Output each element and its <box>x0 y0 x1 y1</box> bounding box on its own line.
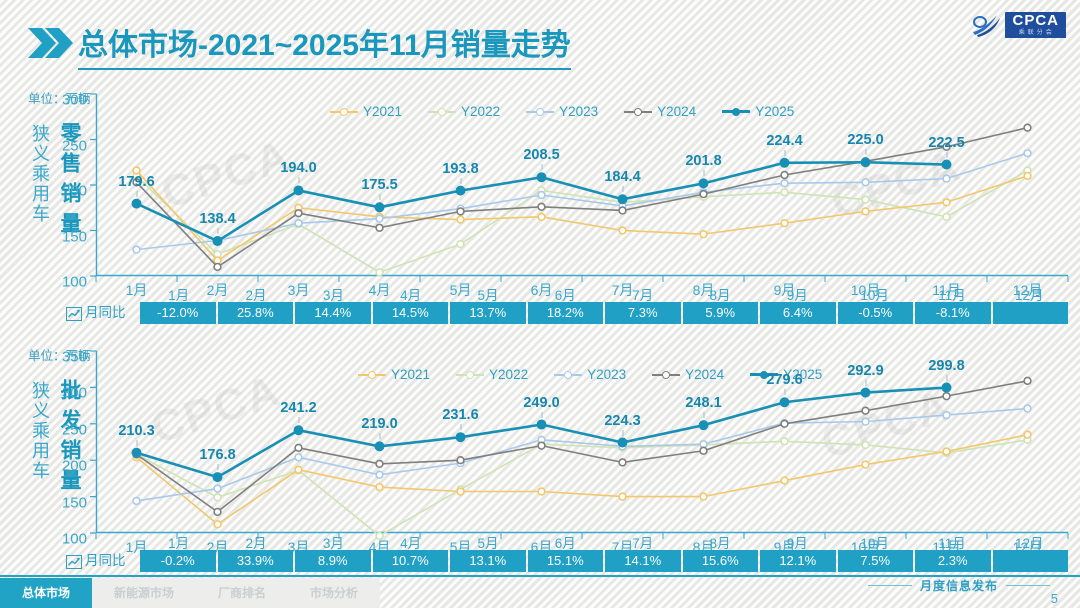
table-cell: 25.8% <box>218 302 294 324</box>
table-cell: 14.5% <box>373 302 449 324</box>
table-cell: 7.3% <box>605 302 681 324</box>
publication-label: 月度信息发布 <box>920 577 998 594</box>
table-cell: 12.1% <box>760 550 836 572</box>
publication-banner: 月度信息发布 <box>868 577 1050 594</box>
table-cell: 33.9% <box>218 550 294 572</box>
table-cell: -0.2% <box>140 550 216 572</box>
table-header-cell: 4月 <box>372 284 449 304</box>
table-cell: 5.9% <box>683 302 759 324</box>
page-title-rest: -2021~2025年11月销量走势 <box>198 29 571 62</box>
cpca-logo-text: CPCA <box>1005 12 1066 29</box>
table-header-cell: 5月 <box>449 284 526 304</box>
chart-data-label: 184.4 <box>604 169 640 185</box>
chart-label-leader <box>946 152 947 158</box>
chart-plot-area: 100150200250300350210.3176.8241.2219.023… <box>96 351 1068 533</box>
table-header-cell: 6月 <box>527 284 604 304</box>
table-row-label: 月同比 <box>66 302 126 324</box>
chart-data-label: 208.5 <box>523 147 559 163</box>
table-header-row: 1月2月3月4月5月6月7月8月9月10月11月12月 <box>140 532 1068 552</box>
table-cell: 13.7% <box>450 302 526 324</box>
table-row-label-text: 月同比 <box>85 302 126 324</box>
slide-header: 总体市场-2021~2025年11月销量走势 CPCA 乘联分会 <box>0 0 1080 82</box>
chart-data-label: 225.0 <box>847 132 883 148</box>
chart-y-tick-label: 100 <box>62 531 96 548</box>
chart-data-label: 224.4 <box>766 133 802 149</box>
table-header-cell: 4月 <box>372 532 449 552</box>
table-cell: 18.2% <box>528 302 604 324</box>
table-header-cell: 7月 <box>604 284 681 304</box>
table-header-cell: 6月 <box>527 532 604 552</box>
chart-label-leader <box>946 375 947 381</box>
chart-y-tick-label: 150 <box>62 494 96 511</box>
chart-label-leader <box>865 380 866 386</box>
table-cell: 13.1% <box>450 550 526 572</box>
chart-data-label: 231.6 <box>442 407 478 423</box>
chart-data-label: 241.2 <box>280 400 316 416</box>
table-value-row: -0.2%33.9%8.9%10.7%13.1%15.1%14.1%15.6%1… <box>140 550 1068 572</box>
table-header-cell: 1月 <box>140 532 217 552</box>
chart-data-label: 193.8 <box>442 161 478 177</box>
chart-data-label: 299.8 <box>928 358 964 374</box>
table-row-label-text: 月同比 <box>85 550 126 572</box>
chart-data-label: 210.3 <box>118 423 154 439</box>
cpca-swoosh-icon <box>971 12 1001 38</box>
chart-data-label: 175.5 <box>361 177 397 193</box>
table-header-cell: 9月 <box>759 284 836 304</box>
chart-data-label: 222.5 <box>928 135 964 151</box>
chart-label-leader <box>541 412 542 418</box>
chart-data-label: 138.4 <box>199 211 235 227</box>
table-cell: 7.5% <box>838 550 914 572</box>
publication-line-right <box>1006 585 1050 586</box>
double-chevron-right-icon <box>28 26 74 60</box>
table-cell: 8.9% <box>295 550 371 572</box>
table-cell: 15.6% <box>683 550 759 572</box>
table-header-cell: 8月 <box>681 532 758 552</box>
table-cell: 6.4% <box>760 302 836 324</box>
chart-data-label: 201.8 <box>685 153 721 169</box>
chart-data-label: 248.1 <box>685 395 721 411</box>
chart-label-leader <box>298 177 299 183</box>
table-cell: -12.0% <box>140 302 216 324</box>
chart-label-leader <box>622 186 623 192</box>
chart-y-tick-label: 250 <box>62 421 96 438</box>
chart-data-label: 279.6 <box>766 372 802 388</box>
table-header-cell: 8月 <box>681 284 758 304</box>
table-header-cell: 7月 <box>604 532 681 552</box>
chart-y-tick-label: 100 <box>62 274 96 291</box>
table-header-cell: 11月 <box>913 284 990 304</box>
chart-data-label: 176.8 <box>199 447 235 463</box>
chart-category-label: 狭义乘用车 <box>26 124 50 224</box>
chart-y-tick-label: 200 <box>62 183 96 200</box>
table-header-cell: 12月 <box>991 284 1068 304</box>
footer-tab-inactive[interactable]: 新能源市场 <box>92 578 196 608</box>
chart-label-leader <box>865 149 866 155</box>
chart-label-leader <box>703 412 704 418</box>
footer-tab-inactive[interactable]: 厂商排名 <box>196 578 288 608</box>
chart-axes <box>96 351 1068 533</box>
chart-label-leader <box>298 417 299 423</box>
table-header-cell: 10月 <box>836 284 913 304</box>
table-cell: 15.1% <box>528 550 604 572</box>
table-header-cell: 9月 <box>759 532 836 552</box>
chart-y-tick-label: 300 <box>62 92 96 109</box>
chart-label-leader <box>784 150 785 156</box>
chart-data-label: 179.6 <box>118 174 154 190</box>
trend-chart-icon <box>66 554 82 568</box>
slide-footer: 总体市场新能源市场厂商排名市场分析 月度信息发布 5 <box>0 575 1080 608</box>
chart-y-tick-label: 250 <box>62 137 96 154</box>
table-header-cell: 2月 <box>217 284 294 304</box>
table-cell: 14.1% <box>605 550 681 572</box>
table-header-cell: 11月 <box>913 532 990 552</box>
chart-data-label: 219.0 <box>361 416 397 432</box>
chart-category-label: 狭义乘用车 <box>26 381 50 481</box>
table-header-cell: 1月 <box>140 284 217 304</box>
table-cell <box>993 550 1069 572</box>
table-cell: -8.1% <box>915 302 991 324</box>
chart-y-tick-label: 350 <box>62 349 96 366</box>
chart-label-leader <box>541 164 542 170</box>
chart-label-leader <box>460 178 461 184</box>
chart-data-label: 194.0 <box>280 160 316 176</box>
chart-label-leader <box>784 389 785 395</box>
chart-label-leader <box>136 191 137 197</box>
chart-axes <box>96 94 1068 276</box>
slide: 总体市场-2021~2025年11月销量走势 CPCA 乘联分会 CPCA CP… <box>0 0 1080 608</box>
chart-y-tick-label: 150 <box>62 228 96 245</box>
table-header-cell: 3月 <box>295 284 372 304</box>
chart-label-leader <box>136 440 137 446</box>
chart-data-label: 224.3 <box>604 413 640 429</box>
page-title-main: 总体市场 <box>78 29 198 62</box>
page-title: 总体市场-2021~2025年11月销量走势 <box>78 20 571 70</box>
table-cell <box>993 302 1069 324</box>
table-cell: 10.7% <box>373 550 449 572</box>
table-cell: 2.3% <box>915 550 991 572</box>
chart-label-leader <box>703 170 704 176</box>
chart-plot-area: 100150200250300179.6138.4194.0175.5193.8… <box>96 94 1068 276</box>
table-header-row: 1月2月3月4月5月6月7月8月9月10月11月12月 <box>140 284 1068 304</box>
chart-y-tick-label: 200 <box>62 458 96 475</box>
trend-chart-icon <box>66 306 82 320</box>
table-header-cell: 5月 <box>449 532 526 552</box>
table-header-cell: 2月 <box>217 532 294 552</box>
chart-label-leader <box>217 464 218 470</box>
footer-tab-inactive[interactable]: 市场分析 <box>288 578 380 608</box>
cpca-logo-subtext: 乘联分会 <box>1005 29 1066 38</box>
chart-label-leader <box>217 228 218 234</box>
page-number: 5 <box>1051 591 1058 606</box>
chart-label-leader <box>379 194 380 200</box>
chart-y-tick-label: 300 <box>62 385 96 402</box>
table-value-row: -12.0%25.8%14.4%14.5%13.7%18.2%7.3%5.9%6… <box>140 302 1068 324</box>
footer-tab-active[interactable]: 总体市场 <box>0 578 92 608</box>
cpca-logo: CPCA 乘联分会 <box>971 12 1066 38</box>
chart-data-label: 249.0 <box>523 395 559 411</box>
publication-line-left <box>868 585 912 586</box>
chart-label-leader <box>379 433 380 439</box>
table-header-cell: 10月 <box>836 532 913 552</box>
table-row-label: 月同比 <box>66 550 126 572</box>
table-header-cell: 3月 <box>295 532 372 552</box>
chart-data-label: 292.9 <box>847 363 883 379</box>
chart-label-leader <box>460 424 461 430</box>
table-header-cell: 12月 <box>991 532 1068 552</box>
chart-label-leader <box>622 430 623 436</box>
footer-tabs: 总体市场新能源市场厂商排名市场分析 <box>0 578 380 608</box>
table-cell: 14.4% <box>295 302 371 324</box>
table-cell: -0.5% <box>838 302 914 324</box>
